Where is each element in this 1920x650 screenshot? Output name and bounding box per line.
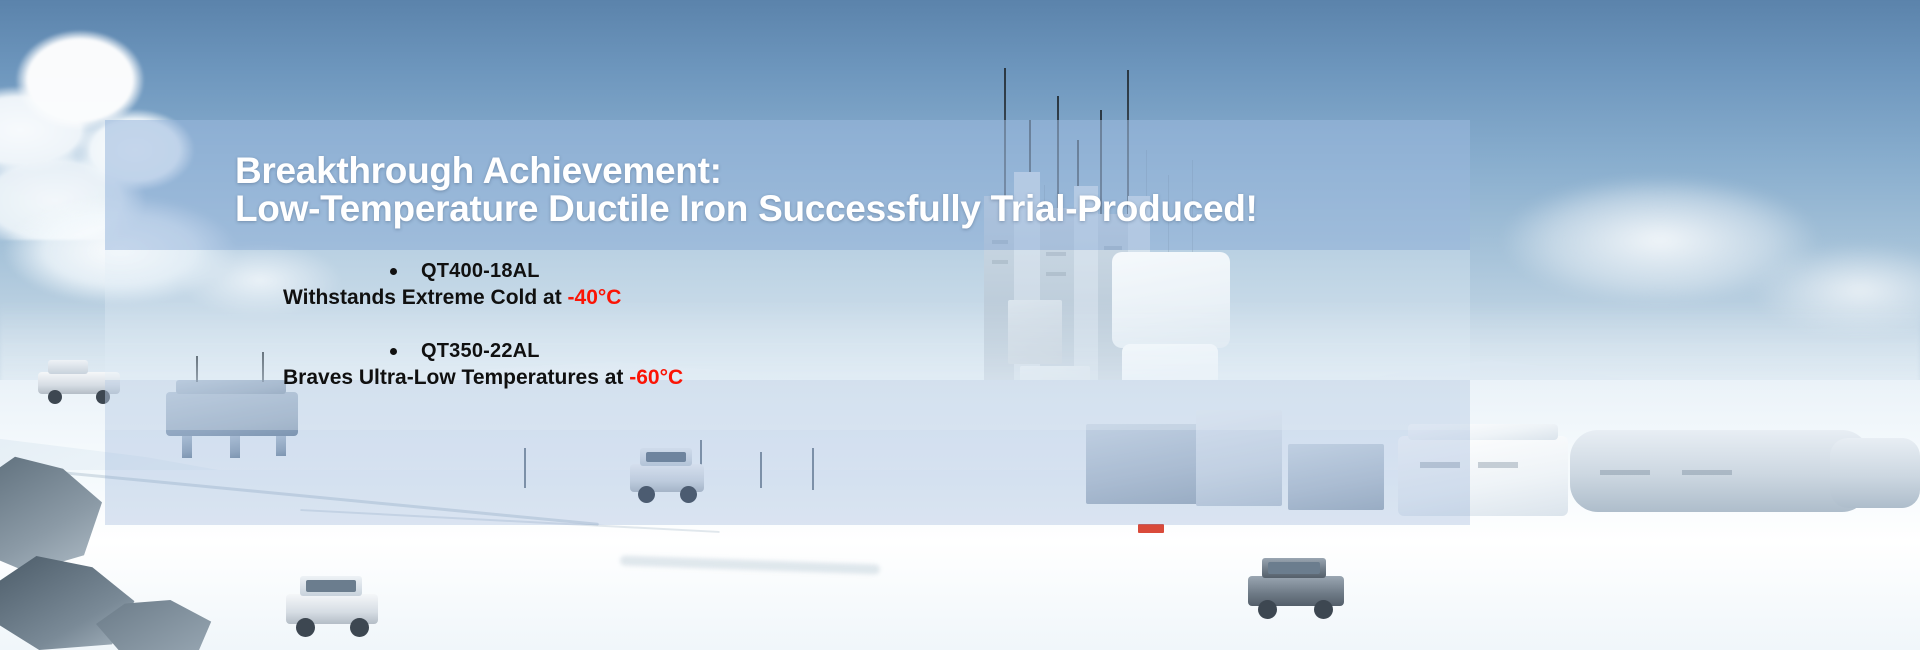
overlay-lower-band — [105, 430, 1470, 525]
feature-item: QT350-22AL Braves Ultra-Low Temperatures… — [105, 338, 1470, 392]
feature-heading-row: QT400-18AL — [105, 258, 1470, 284]
temperature-value: -60°C — [629, 366, 683, 389]
cylindrical-tank — [1830, 438, 1920, 508]
vehicle-wheel — [1314, 600, 1333, 619]
feature-list: QT400-18AL Withstands Extreme Cold at -4… — [105, 258, 1470, 418]
suv-windshield — [1268, 562, 1320, 574]
feature-item: QT400-18AL Withstands Extreme Cold at -4… — [105, 258, 1470, 312]
feature-description-text: Withstands Extreme Cold at — [283, 286, 568, 309]
feature-description: Withstands Extreme Cold at -40°C — [105, 284, 1470, 312]
vehicle-wheel — [1258, 600, 1277, 619]
temperature-value: -40°C — [568, 286, 622, 309]
marker-flag — [1138, 524, 1164, 533]
snow-vehicle-cab — [48, 360, 88, 374]
tank-seam — [1600, 470, 1650, 475]
headline-line-1: Breakthrough Achievement: — [235, 150, 722, 191]
feature-description-text: Braves Ultra-Low Temperatures at — [283, 366, 629, 389]
vehicle-wheel — [48, 390, 62, 404]
feature-description: Braves Ultra-Low Temperatures at -60°C — [105, 364, 1470, 392]
vehicle-wheel — [350, 618, 369, 637]
bullet-dot-icon — [390, 268, 397, 275]
tank-seam — [1682, 470, 1732, 475]
promo-banner: Breakthrough Achievement: Low-Temperatur… — [0, 0, 1920, 650]
overlay-panel: Breakthrough Achievement: Low-Temperatur… — [105, 120, 1470, 430]
grade-code: QT400-18AL — [421, 258, 540, 284]
headline: Breakthrough Achievement: Low-Temperatur… — [235, 152, 1455, 228]
vehicle-wheel — [296, 618, 315, 637]
grade-code: QT350-22AL — [421, 338, 540, 364]
feature-heading-row: QT350-22AL — [105, 338, 1470, 364]
building-window — [1478, 462, 1518, 468]
bullet-dot-icon — [390, 348, 397, 355]
suv-windshield — [306, 580, 356, 592]
headline-line-2: Low-Temperature Ductile Iron Successfull… — [235, 190, 1455, 228]
